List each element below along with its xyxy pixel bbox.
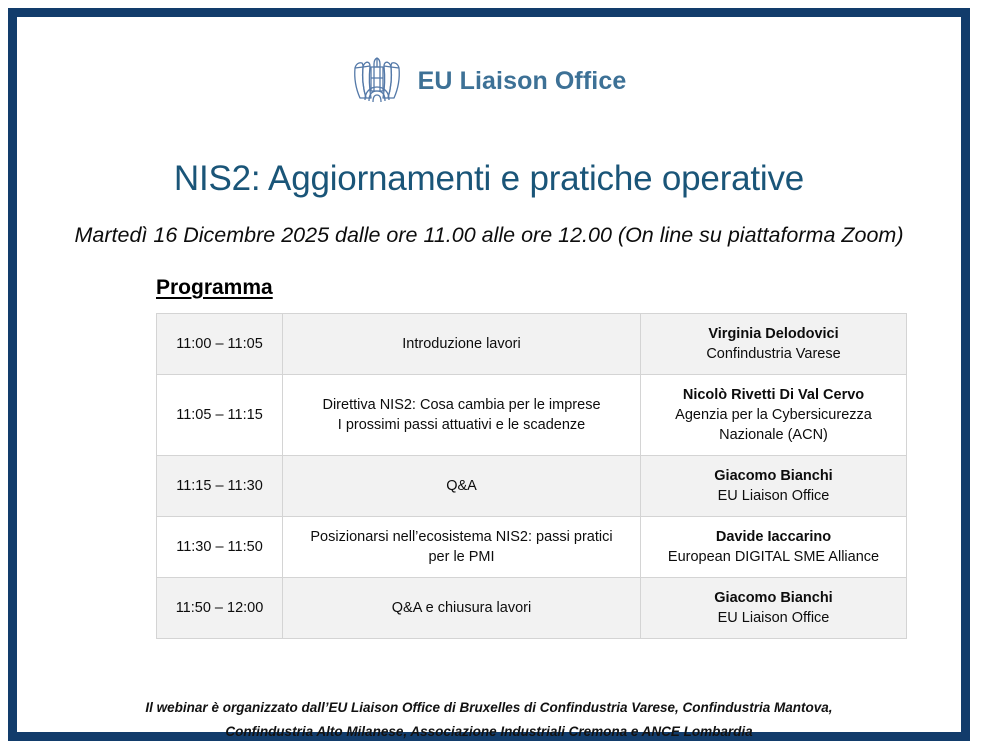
agenda-time-cell: 11:00 – 11:05 [157, 314, 283, 375]
footer-line-2: Confindustria Alto Milanese, Associazion… [117, 720, 861, 744]
brand-header: EU Liaison Office [17, 55, 961, 107]
agenda-time-cell: 11:50 – 12:00 [157, 578, 283, 639]
agenda-speaker-name: Nicolò Rivetti Di Val Cervo [649, 385, 898, 405]
event-datetime: Martedì 16 Dicembre 2025 dalle ore 11.00… [17, 223, 961, 248]
table-row: 11:30 – 11:50 Posizionarsi nell’ecosiste… [157, 517, 907, 578]
agenda-speaker-name: Davide Iaccarino [649, 527, 898, 547]
agenda-topic-line-2: I prossimi passi attuativi e le scadenze [291, 415, 632, 435]
table-row: 11:00 – 11:05 Introduzione lavori Virgin… [157, 314, 907, 375]
agenda-time-cell: 11:15 – 11:30 [157, 456, 283, 517]
agenda-table: 11:00 – 11:05 Introduzione lavori Virgin… [156, 313, 907, 639]
page-border-frame: EU Liaison Office NIS2: Aggiornamenti e … [8, 8, 970, 741]
agenda-topic-cell: Direttiva NIS2: Cosa cambia per le impre… [283, 375, 641, 456]
agenda-speaker-name: Virginia Delodovici [649, 324, 898, 344]
agenda-topic-line-1: Q&A [291, 476, 632, 496]
agenda-topic-line-2: per le PMI [291, 547, 632, 567]
agenda-speaker-org-1: European DIGITAL SME Alliance [649, 547, 898, 567]
agenda-speaker-cell: Virginia Delodovici Confindustria Varese [641, 314, 907, 375]
agenda-speaker-org-1: EU Liaison Office [649, 486, 898, 506]
agenda-table-wrapper: 11:00 – 11:05 Introduzione lavori Virgin… [17, 313, 961, 639]
agenda-topic-line-1: Posizionarsi nell’ecosistema NIS2: passi… [291, 527, 632, 547]
agenda-speaker-org-2: Nazionale (ACN) [649, 425, 898, 445]
agenda-topic-cell: Q&A e chiusura lavori [283, 578, 641, 639]
agenda-speaker-org-1: Confindustria Varese [649, 344, 898, 364]
table-row: 11:05 – 11:15 Direttiva NIS2: Cosa cambi… [157, 375, 907, 456]
page-content: EU Liaison Office NIS2: Aggiornamenti e … [17, 17, 961, 732]
agenda-topic-cell: Introduzione lavori [283, 314, 641, 375]
programma-section-header: Programma [17, 276, 961, 300]
agenda-table-body: 11:00 – 11:05 Introduzione lavori Virgin… [157, 314, 907, 639]
confindustria-eagle-emblem-icon [352, 55, 402, 107]
agenda-time-cell: 11:05 – 11:15 [157, 375, 283, 456]
table-row: 11:15 – 11:30 Q&A Giacomo Bianchi EU Lia… [157, 456, 907, 517]
agenda-time-cell: 11:30 – 11:50 [157, 517, 283, 578]
agenda-speaker-cell: Giacomo Bianchi EU Liaison Office [641, 456, 907, 517]
agenda-topic-line-1: Introduzione lavori [291, 334, 632, 354]
programma-heading: Programma [156, 276, 273, 300]
agenda-topic-line-1: Direttiva NIS2: Cosa cambia per le impre… [291, 395, 632, 415]
footer-line-1: Il webinar è organizzato dall’EU Liaison… [117, 696, 861, 720]
agenda-speaker-org-1: Agenzia per la Cybersicurezza [649, 405, 898, 425]
footer-note: Il webinar è organizzato dall’EU Liaison… [17, 696, 961, 743]
agenda-topic-line-1: Q&A e chiusura lavori [291, 598, 632, 618]
table-row: 11:50 – 12:00 Q&A e chiusura lavori Giac… [157, 578, 907, 639]
event-title: NIS2: Aggiornamenti e pratiche operative [17, 159, 961, 199]
agenda-topic-cell: Posizionarsi nell’ecosistema NIS2: passi… [283, 517, 641, 578]
agenda-speaker-name: Giacomo Bianchi [649, 588, 898, 608]
brand-name: EU Liaison Office [418, 67, 627, 96]
agenda-topic-cell: Q&A [283, 456, 641, 517]
agenda-speaker-cell: Giacomo Bianchi EU Liaison Office [641, 578, 907, 639]
agenda-speaker-org-1: EU Liaison Office [649, 608, 898, 628]
agenda-speaker-name: Giacomo Bianchi [649, 466, 898, 486]
agenda-speaker-cell: Davide Iaccarino European DIGITAL SME Al… [641, 517, 907, 578]
agenda-speaker-cell: Nicolò Rivetti Di Val Cervo Agenzia per … [641, 375, 907, 456]
